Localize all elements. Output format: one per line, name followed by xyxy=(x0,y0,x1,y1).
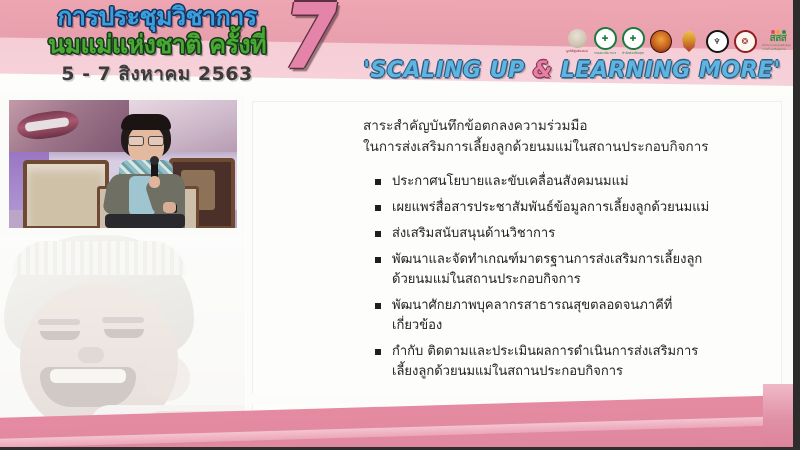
lead-line-1: สาระสำคัญบันทึกข้อตกลงความร่วมมือ xyxy=(363,116,783,137)
department-of-health-logo: ✚ สำนักส่งเสริมสุขภาพ xyxy=(622,27,644,55)
government-seal-logo: ❂ xyxy=(734,27,756,55)
bullet-line-cont: เลี้ยงลูกด้วยนมแม่ในสถานประกอบกิจการ xyxy=(392,362,775,382)
bullet-line: ประกาศนโยบายและขับเคลื่อนสังคมนมแม่ xyxy=(392,174,629,189)
edition-number: 7 xyxy=(283,0,337,84)
bullet-square-icon xyxy=(375,231,381,237)
list-item: เผยแพร่สื่อสารประชาสัมพันธ์ข้อมูลการเลี้… xyxy=(375,198,775,218)
slide-content-inner: สาระสำคัญบันทึกข้อตกลงความร่วมมือ ในการส… xyxy=(253,102,781,432)
ministry-of-public-health-logo: ✚ กรมอนามัย กระทรวงสาธารณสุข xyxy=(594,27,616,55)
left-media-column xyxy=(0,95,245,447)
conference-title-line2: นมแม่แห่งชาติ ครั้งที่ xyxy=(12,29,302,60)
bullet-square-icon xyxy=(375,205,381,211)
bullet-line: พัฒนาศักยภาพบุคลากรสาธารณสุขตลอดจนภาคีที… xyxy=(392,298,672,313)
tagline-part-1: 'SCALING UP xyxy=(363,58,533,83)
ministry-of-public-health-logo-caption: กรมอนามัย กระทรวงสาธารณสุข xyxy=(594,51,616,55)
speaker-figure xyxy=(101,114,191,228)
thai-pediatric-society-logo xyxy=(650,27,672,55)
bullet-line: เผยแพร่สื่อสารประชาสัมพันธ์ข้อมูลการเลี้… xyxy=(392,200,709,215)
slide-header-banner: การประชุมวิชาการ นมแม่แห่งชาติ ครั้งที่ … xyxy=(0,0,800,95)
sponsor-logo-strip: มูลนิธิศูนย์นมแม่แห่งประเทศไทย ✚ กรมอนาม… xyxy=(566,26,794,56)
list-item: ประกาศนโยบายและขับเคลื่อนสังคมนมแม่ xyxy=(375,172,775,192)
nursing-council-logo: ♆ xyxy=(706,27,728,55)
bullet-square-icon xyxy=(375,303,381,309)
bullet-line-cont: เกี่ยวข้อง xyxy=(392,316,775,336)
speaker-video-feed[interactable] xyxy=(9,100,237,228)
thaihealth-logo-subtext: สำนักงานกองทุนสนับสนุนการสร้างเสริมสุขภา… xyxy=(762,44,794,52)
thaihealth-logo-text: สสส xyxy=(770,34,787,44)
capture-frame-right-edge xyxy=(793,0,800,450)
list-item: ส่งเสริมสนับสนุนด้านวิชาการ xyxy=(375,224,775,244)
lead-line-2: ในการส่งเสริมการเลี้ยงลูกด้วยนมแม่ในสถาน… xyxy=(363,137,783,158)
conference-tagline: 'SCALING UP & LEARNING MORE' xyxy=(352,56,792,86)
department-of-health-logo-caption: สำนักส่งเสริมสุขภาพ xyxy=(622,51,644,55)
royal-emblem-logo-caption: มูลนิธิศูนย์นมแม่แห่งประเทศไทย xyxy=(566,49,588,53)
presentation-slide: การประชุมวิชาการ นมแม่แห่งชาติ ครั้งที่ … xyxy=(0,0,800,450)
conference-date: 5 - 7 สิงหาคม 2563 xyxy=(12,62,302,86)
bullet-line: กำกับ ติดตามและประเมินผลการดำเนินการส่งเ… xyxy=(392,344,698,359)
conference-title-block: การประชุมวิชาการ นมแม่แห่งชาติ ครั้งที่ … xyxy=(12,2,302,86)
conference-title-line1: การประชุมวิชาการ xyxy=(12,2,302,32)
bullet-line: พัฒนาและจัดทำเกณฑ์มาตรฐานการส่งเสริมการเ… xyxy=(392,252,702,267)
royal-college-crest-logo xyxy=(678,27,700,55)
slide-bullet-list: ประกาศนโยบายและขับเคลื่อนสังคมนมแม่ เผยแ… xyxy=(375,172,775,388)
list-item: พัฒนาศักยภาพบุคลากรสาธารณสุขตลอดจนภาคีที… xyxy=(375,296,775,336)
royal-emblem-logo: มูลนิธิศูนย์นมแม่แห่งประเทศไทย xyxy=(566,27,588,55)
bullet-line-cont: ด้วยนมแม่ในสถานประกอบกิจการ xyxy=(392,270,775,290)
bullet-square-icon xyxy=(375,179,381,185)
slide-lead-text: สาระสำคัญบันทึกข้อตกลงความร่วมมือ ในการส… xyxy=(363,116,783,158)
thaihealth-sss-logo: สสส สำนักงานกองทุนสนับสนุนการสร้างเสริมส… xyxy=(762,27,794,55)
slide-footer-right-corner xyxy=(763,384,793,450)
bullet-line: ส่งเสริมสนับสนุนด้านวิชาการ xyxy=(392,226,555,241)
list-item: พัฒนาและจัดทำเกณฑ์มาตรฐานการส่งเสริมการเ… xyxy=(375,250,775,290)
speaker-glasses-icon xyxy=(128,136,164,144)
tagline-part-2: LEARNING MORE' xyxy=(553,58,781,83)
bullet-square-icon xyxy=(375,349,381,355)
bullet-square-icon xyxy=(375,257,381,263)
tagline-ampersand: & xyxy=(533,58,553,83)
list-item: กำกับ ติดตามและประเมินผลการดำเนินการส่งเ… xyxy=(375,342,775,382)
